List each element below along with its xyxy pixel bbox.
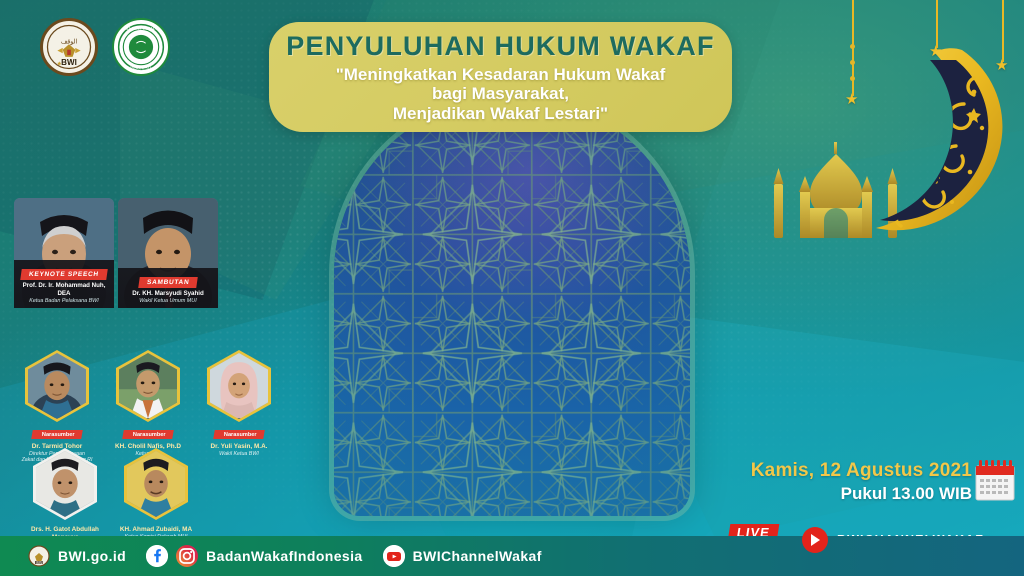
speaker-role-ribbon: SAMBUTAN xyxy=(138,277,198,288)
narasumber-photo xyxy=(119,353,177,419)
svg-text:MAJELIS ULAMA: MAJELIS ULAMA xyxy=(125,26,158,31)
hexagon-frame xyxy=(207,350,271,422)
narasumber-photo xyxy=(36,451,94,517)
subtitle-line-2: bagi Masyarakat, xyxy=(336,84,666,103)
speaker-namebar: SAMBUTAN Dr. KH. Marsyudi Syahid Wakil K… xyxy=(118,268,218,308)
featured-speaker-card: SAMBUTAN Dr. KH. Marsyudi Syahid Wakil K… xyxy=(118,198,218,308)
hexagon-frame xyxy=(124,448,188,520)
footer-social-handle[interactable]: BadanWakafIndonesia xyxy=(206,548,362,564)
narasumber-photo xyxy=(127,451,185,517)
event-time: Pukul 13.00 WIB xyxy=(751,484,972,504)
speaker-title: Wakil Ketua Umum MUI xyxy=(120,298,216,304)
narasumber-photo xyxy=(210,353,268,419)
narasumber-badge: Narasumber xyxy=(31,430,82,439)
narasumber-badge: Narasumber xyxy=(213,430,264,439)
narasumber-photo xyxy=(28,353,86,419)
svg-text:الوقف: الوقف xyxy=(61,38,78,45)
subtitle-line-1: "Meningkatkan Kesadaran Hukum Wakaf xyxy=(336,65,666,84)
narasumber-name: KH. Ahmad Zubaidi, MA xyxy=(113,526,199,534)
pattern-veil xyxy=(334,96,690,516)
hexagon-frame xyxy=(25,350,89,422)
narasumber-card: Narasumber KH. Cholil Nafis, Ph.D Ketua … xyxy=(105,350,191,457)
narasumber-role-line1: Wakil Ketua BWI xyxy=(196,451,282,458)
narasumber-name: Dr. Yuli Yasin, M.A. xyxy=(196,443,282,451)
svg-text:INDONESIA: INDONESIA xyxy=(130,65,152,70)
svg-text:BWI: BWI xyxy=(35,560,44,565)
svg-text:BWI: BWI xyxy=(61,58,77,67)
narasumber-card: KH. Ahmad Zubaidi, MA Ketua Komisi Dakwa… xyxy=(113,448,199,540)
mui-logo: MAJELIS ULAMA INDONESIA xyxy=(112,18,170,76)
featured-speaker-card: KEYNOTE SPEECH Prof. Dr. Ir. Mohammad Nu… xyxy=(14,198,114,308)
facebook-icon[interactable] xyxy=(146,545,168,567)
bwi-logo: الوقف BWI xyxy=(40,18,98,76)
footer-bar: BWI BWI.go.id BadanWakafIndonesia xyxy=(0,536,1024,576)
youtube-icon[interactable] xyxy=(383,545,405,567)
bwi-logo-icon: BWI xyxy=(28,545,50,567)
speaker-name: Dr. KH. Marsyudi Syahid xyxy=(120,290,216,298)
speaker-role-ribbon: KEYNOTE SPEECH xyxy=(20,269,107,280)
instagram-icon[interactable] xyxy=(176,545,198,567)
event-schedule: Kamis, 12 Agustus 2021 Pukul 13.00 WIB xyxy=(751,460,972,504)
crescent-moon-icon xyxy=(824,42,1014,242)
speaker-title: Ketua Badan Pelaksana BWI xyxy=(16,298,112,304)
youtube-play-icon[interactable] xyxy=(802,527,828,553)
speaker-namebar: KEYNOTE SPEECH Prof. Dr. Ir. Mohammad Nu… xyxy=(14,260,114,308)
event-poster: ★ ★ ★ xyxy=(0,0,1024,576)
speaker-name: Prof. Dr. Ir. Mohammad Nuh, DEA xyxy=(16,282,112,298)
narasumber-badge: Narasumber xyxy=(122,430,173,439)
title-banner: PENYULUHAN HUKUM WAKAF "Meningkatkan Kes… xyxy=(269,22,732,132)
subtitle-line-3: Menjadikan Wakaf Lestari" xyxy=(336,104,666,123)
calendar-icon xyxy=(974,458,1016,502)
narasumber-card: Narasumber Dr. Tarmid Tohor Direktur Pem… xyxy=(14,350,100,464)
organization-logos: الوقف BWI MAJELIS ULAMA INDONESIA xyxy=(40,18,170,76)
footer-website[interactable]: BWI.go.id xyxy=(58,548,126,564)
event-date: Kamis, 12 Agustus 2021 xyxy=(751,460,972,482)
islamic-pattern-arch xyxy=(334,96,690,516)
page-subtitle: "Meningkatkan Kesadaran Hukum Wakaf bagi… xyxy=(336,65,666,122)
narasumber-card: Narasumber Dr. Yuli Yasin, M.A. Wakil Ke… xyxy=(196,350,282,457)
hexagon-frame xyxy=(33,448,97,520)
page-title: PENYULUHAN HUKUM WAKAF xyxy=(286,31,714,62)
footer-youtube-handle[interactable]: BWIChannelWakaf xyxy=(413,548,542,564)
hexagon-frame xyxy=(116,350,180,422)
narasumber-card: Drs. H. Gatot Abdullah Mansyur Ketua Dew… xyxy=(22,448,108,548)
